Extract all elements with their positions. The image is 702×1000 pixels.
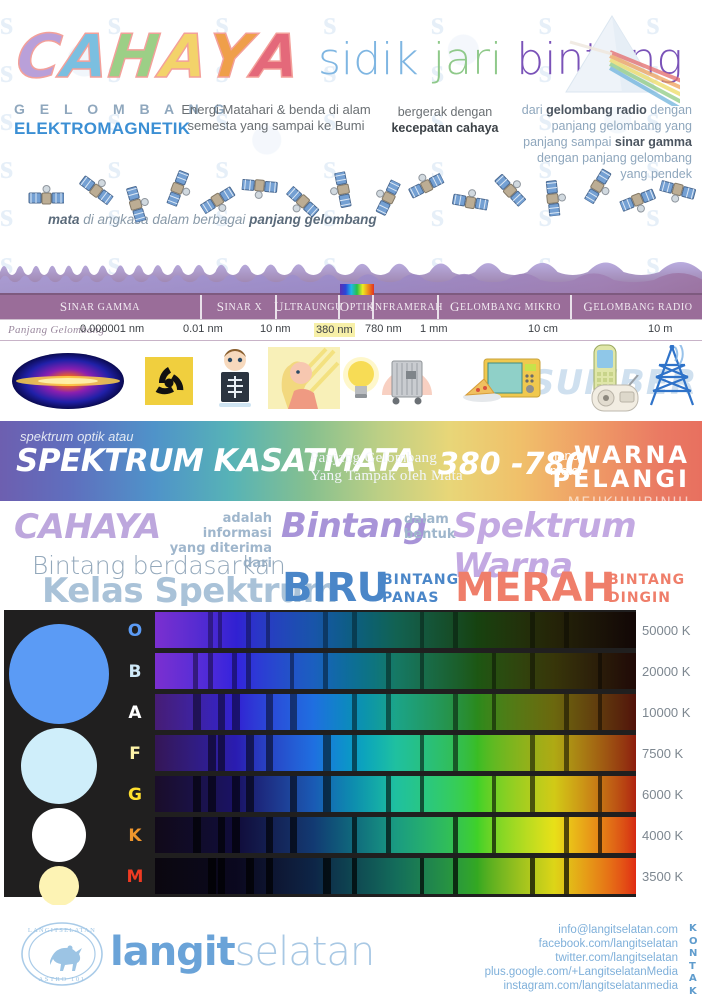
kontak-letter-1: O	[689, 936, 698, 949]
satellite-icon-1	[28, 184, 64, 217]
star-disc-B	[21, 728, 97, 804]
title-letter-2: H	[105, 22, 164, 92]
satellite-illustration-row: mata di angkasa dalam berbagai panjang g…	[0, 170, 702, 242]
temperature-label-G: 6000 K	[642, 787, 683, 802]
wavelength-mark-1: 0.01 nm	[183, 323, 223, 335]
intro-block2-bold: kecepatan cahaya	[391, 121, 498, 135]
page-title: CAHAYA	[16, 22, 299, 92]
satellite-icon-16	[660, 176, 696, 209]
kontak-letter-2: N	[689, 948, 698, 961]
em-band-gelombang-mikro[interactable]: GELOMBANG MIKRO	[437, 295, 572, 319]
satellite-icon-2	[78, 176, 114, 209]
biru-l1: BINTANG	[382, 571, 459, 589]
brand-selatan: selatan	[235, 929, 375, 975]
stmt-bintang-panas: BINTANG PANAS	[382, 571, 459, 607]
temperature-label-B: 20000 K	[642, 664, 690, 679]
spectral-class-letter-F: F	[125, 744, 145, 764]
star-disc-A	[32, 808, 86, 862]
wavelength-mark-4: 780 nm	[365, 323, 402, 335]
wavelength-mark-2: 10 nm	[260, 323, 291, 335]
spectral-class-letter-B: B	[125, 662, 145, 682]
stellar-spectral-class-chart: O50000 KB20000 KA10000 KF7500 KG6000 KK4…	[0, 606, 702, 905]
em-band-optik[interactable]: OPTIK	[338, 295, 374, 319]
poster-footer: LANGITSELATAN ASTRO 101 langitselatan in…	[0, 905, 702, 995]
temperature-label-A: 10000 K	[642, 705, 690, 720]
warna-line1: WARNA	[552, 443, 690, 467]
dalam-l2: bentuk	[404, 527, 456, 542]
satellite-icon-3	[118, 190, 154, 223]
biru-l2: PANAS	[382, 589, 459, 607]
satellite-icon-5	[200, 186, 236, 219]
intro-block2-pre: bergerak dengan	[398, 105, 493, 119]
spectrum-strip-O	[155, 612, 636, 648]
visible-spectrum-band: spektrum optik atau SPEKTRUM KASATMATA P…	[0, 421, 702, 501]
wavelength-mark-5: 1 mm	[420, 323, 448, 335]
stmt-biru: BIRU	[282, 565, 389, 611]
wavelength-scale-row: Panjang Gelombang 0.000001 nm0.01 nm10 n…	[0, 320, 702, 341]
kontak-letter-5: K	[689, 986, 698, 999]
satellite-icon-9	[370, 184, 406, 217]
wavelength-mark-7: 10 m	[648, 323, 672, 335]
subtitle-word-0: sidik	[318, 34, 433, 85]
title-letter-4: Y	[203, 22, 255, 92]
radiation-hazard-icon	[145, 357, 193, 405]
radio-receiver-icon	[590, 375, 646, 413]
gamma-ray-sky-map-icon	[12, 353, 124, 409]
svg-text:LANGITSELATAN: LANGITSELATAN	[28, 927, 96, 934]
xray-child-icon	[212, 347, 258, 411]
contact-link-1[interactable]: facebook.com/langitselatan	[485, 937, 678, 951]
satellite-icon-4	[160, 174, 196, 207]
merah-l1: BINTANG	[608, 571, 685, 589]
wavelength-mark-0: 0.000001 nm	[80, 323, 144, 335]
temperature-label-M: 3500 K	[642, 869, 683, 884]
spectrum-strip-A	[155, 694, 636, 730]
svg-text:ASTRO 101: ASTRO 101	[38, 976, 85, 983]
spectrum-strip-M	[155, 858, 636, 894]
kontak-vertical-label: KONTAK	[689, 923, 698, 998]
intro-block-energi: Energi Matahari & benda di alam semesta …	[176, 102, 376, 134]
kontak-letter-3: T	[689, 961, 698, 974]
satellite-icon-7	[285, 188, 321, 221]
em-band-gelombang-radio[interactable]: GELOMBANG RADIO	[570, 295, 702, 319]
spectral-class-letter-O: O	[125, 621, 145, 641]
optical-minibar	[340, 284, 374, 295]
spectral-class-letter-A: A	[125, 703, 145, 723]
em-band-sinar-x[interactable]: SINAR X	[200, 295, 277, 319]
satellite-icon-10	[408, 172, 444, 205]
spektrum-optik-label: spektrum optik atau	[20, 429, 133, 444]
lightbulb-icon	[340, 353, 382, 405]
poster-header: CAHAYA sidik jari bintang	[0, 0, 702, 95]
statements-section: CAHAYA adalah informasi yang diterima da…	[0, 501, 702, 606]
satellite-icon-12	[492, 176, 528, 209]
satellite-icon-15	[620, 186, 656, 219]
spectrum-strip-F	[155, 735, 636, 771]
spectrum-strip-K	[155, 817, 636, 853]
intro-block-kecepatan: bergerak dengan kecepatan cahaya	[385, 104, 505, 136]
langitselatan-astro-seal-logo: LANGITSELATAN ASTRO 101	[20, 921, 104, 987]
infographic-poster: s s s s s s s s s s s s s s s s s s s s …	[0, 0, 702, 1000]
wavelength-mark-6: 10 cm	[528, 323, 558, 335]
prism-rainbow-icon	[550, 6, 680, 106]
star-size-column	[4, 610, 114, 897]
warna-line2: PELANGI	[552, 467, 690, 491]
radio-antenna-tower-icon	[645, 345, 699, 409]
em-source-icons-row: SUMBER	[0, 341, 702, 421]
stmt-merah: MERAH	[455, 565, 615, 611]
contact-link-0[interactable]: info@langitselatan.com	[485, 923, 678, 937]
intro-text-row: G E L O M B A N G ELEKTROMAGNETIK Energi…	[0, 95, 702, 170]
em-band-ultraungu[interactable]: ULTRAUNGU	[275, 295, 340, 319]
microwave-pizza-icon	[462, 355, 542, 405]
wavelength-mark-3: 380 nm	[314, 323, 355, 337]
spectral-class-letter-M: M	[125, 867, 145, 887]
em-spectrum-band: SINAR GAMMASINAR XULTRAUNGUOPTIKINFRAMER…	[0, 293, 702, 320]
kontak-letter-4: A	[689, 973, 698, 986]
spectral-class-letter-K: K	[125, 826, 145, 846]
kontak-letter-0: K	[689, 923, 698, 936]
merah-l2: DINGIN	[608, 589, 685, 607]
contact-link-4[interactable]: instagram.com/langitselatanmedia	[485, 979, 678, 993]
stmt-dalam-bentuk: dalam bentuk	[404, 512, 456, 542]
star-disc-O	[9, 624, 109, 724]
em-band-sinar-gamma[interactable]: SINAR GAMMA	[0, 295, 200, 319]
temperature-label-O: 50000 K	[642, 623, 690, 638]
temperature-label-K: 4000 K	[642, 828, 683, 843]
title-letter-1: A	[57, 22, 112, 92]
stmt-cahaya: CAHAYA	[14, 507, 161, 547]
title-letter-0: C	[12, 22, 64, 92]
title-letter-3: A	[156, 22, 211, 92]
ultraviolet-sunbathing-icon	[268, 347, 340, 409]
temperature-label-F: 7500 K	[642, 746, 683, 761]
spectrum-strip-B	[155, 653, 636, 689]
contact-list[interactable]: info@langitselatan.comfacebook.com/langi…	[485, 923, 678, 993]
title-letter-5: A	[248, 22, 303, 92]
subtitle-word-1: jari	[433, 34, 517, 85]
adalah-l1: adalah informasi	[160, 511, 272, 541]
spectral-class-letter-G: G	[125, 785, 145, 805]
satellite-icon-6	[242, 172, 278, 205]
contact-link-2[interactable]: twitter.com/langitselatan	[485, 951, 678, 965]
satellite-icon-13	[535, 184, 571, 217]
brand-langit: langit	[110, 929, 235, 975]
contact-link-3[interactable]: plus.google.com/+LangitselatanMedia	[485, 965, 678, 979]
satellite-icon-14	[580, 172, 616, 205]
em-band-inframerah[interactable]: INFRAMERAH	[372, 295, 439, 319]
infrared-heater-icon	[378, 351, 436, 411]
brand-wordmark: langitselatan	[110, 929, 374, 975]
stmt-bintang-dingin: BINTANG DINGIN	[608, 571, 685, 607]
satellite-icon-8	[325, 176, 361, 209]
satellite-icon-11	[452, 188, 488, 221]
dalam-l1: dalam	[404, 512, 456, 527]
star-disc-F	[39, 866, 79, 906]
spectrum-strip-G	[155, 776, 636, 812]
